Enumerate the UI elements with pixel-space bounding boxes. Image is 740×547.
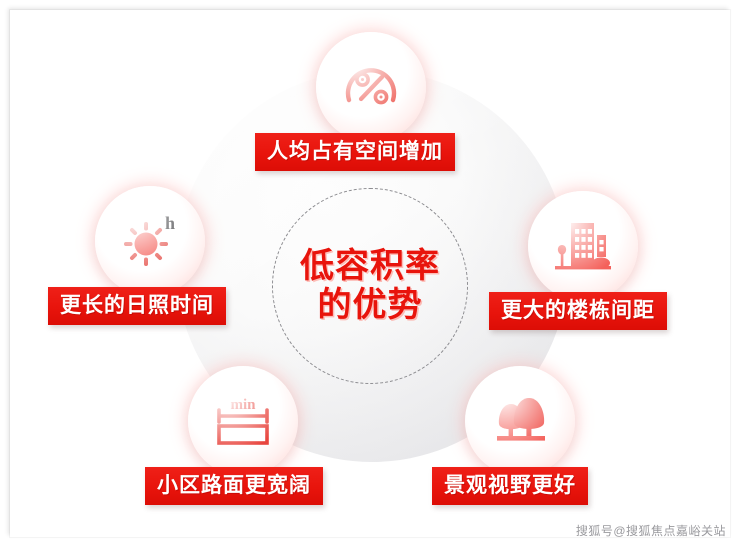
sun-hours-icon: h (118, 211, 182, 271)
bubble-per-capita-space[interactable] (316, 32, 426, 142)
bubble-wider-roads[interactable]: min (188, 366, 298, 476)
label-building-spacing[interactable]: 更大的楼栋间距 (489, 292, 667, 330)
label-better-views[interactable]: 景观视野更好 (432, 467, 588, 505)
center-title: 低容积率 的优势 (272, 188, 468, 384)
label-sunlight-hours[interactable]: 更长的日照时间 (48, 287, 226, 325)
bubble-sunlight-hours[interactable]: h (95, 186, 205, 296)
trees-landscape-icon (489, 392, 551, 450)
center-title-line-2: 的优势 (318, 286, 423, 325)
percent-gauge-icon (340, 56, 402, 118)
watermark-text: 搜狐号@搜狐焦点嘉峪关站 (576, 522, 726, 539)
bubble-building-spacing[interactable] (528, 191, 638, 301)
label-wider-roads[interactable]: 小区路面更宽阔 (145, 467, 323, 505)
infographic-canvas: 低容积率 的优势 人均占有空间增加 (0, 0, 740, 547)
buildings-icon (551, 215, 615, 277)
bubble-better-views[interactable] (465, 366, 575, 476)
label-per-capita-space[interactable]: 人均占有空间增加 (255, 133, 455, 171)
sun-hours-unit-text: h (165, 213, 175, 233)
road-width-min-icon: min (210, 391, 276, 451)
road-min-label-text: min (230, 397, 256, 413)
center-title-line-1: 低容积率 (300, 247, 440, 286)
